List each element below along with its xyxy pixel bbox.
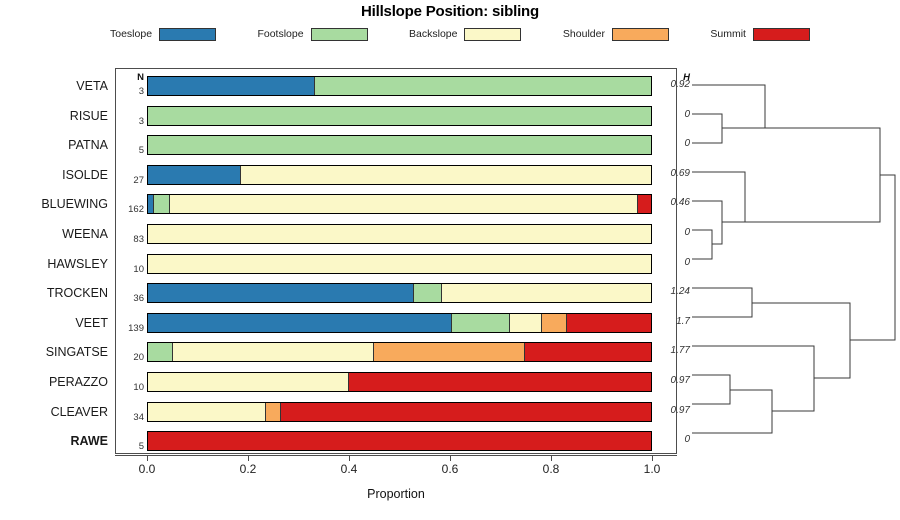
x-tick-label: 0.4 bbox=[327, 462, 371, 476]
legend-item-toeslope[interactable]: Toeslope bbox=[110, 28, 216, 41]
legend-item-label: Backslope bbox=[409, 28, 457, 40]
stacked-bar[interactable] bbox=[147, 402, 652, 422]
bar-segment-summit[interactable] bbox=[349, 373, 651, 391]
x-tick-label: 0.8 bbox=[529, 462, 573, 476]
x-axis-line bbox=[115, 455, 677, 456]
dendrogram-svg bbox=[690, 60, 900, 460]
bar-segment-shoulder[interactable] bbox=[266, 403, 281, 421]
bar-segment-summit[interactable] bbox=[281, 403, 651, 421]
row-count-n: 162 bbox=[118, 204, 144, 216]
bar-segment-backslope[interactable] bbox=[510, 314, 543, 332]
legend-item-label: Summit bbox=[710, 28, 746, 40]
dendro-link-weena-hawsley bbox=[692, 230, 712, 259]
bar-segment-footslope[interactable] bbox=[452, 314, 510, 332]
row-label: VETA bbox=[0, 78, 108, 94]
row-label: RISUE bbox=[0, 108, 108, 124]
row-count-n: 3 bbox=[118, 116, 144, 128]
bar-segment-footslope[interactable] bbox=[148, 107, 651, 125]
row-label: SINGATSE bbox=[0, 344, 108, 360]
dendro-link-risue-patna bbox=[692, 114, 722, 143]
x-tick bbox=[450, 455, 451, 461]
x-tick bbox=[147, 455, 148, 461]
legend-item-summit[interactable]: Summit bbox=[710, 28, 810, 41]
row-entropy-h: 0.69 bbox=[660, 168, 690, 180]
bar-segment-backslope[interactable] bbox=[442, 284, 651, 302]
bar-segment-summit[interactable] bbox=[638, 195, 651, 213]
dendro-link-trocken-veet bbox=[692, 288, 752, 317]
row-count-n: 36 bbox=[118, 293, 144, 305]
bar-segment-footslope[interactable] bbox=[148, 136, 651, 154]
bar-segment-backslope[interactable] bbox=[173, 343, 374, 361]
stacked-bar[interactable] bbox=[147, 135, 652, 155]
x-tick bbox=[652, 455, 653, 461]
legend-swatch-shoulder bbox=[612, 28, 669, 41]
legend-swatch-footslope bbox=[311, 28, 368, 41]
row-entropy-h: 0 bbox=[660, 257, 690, 269]
row-label: WEENA bbox=[0, 226, 108, 242]
row-label: ISOLDE bbox=[0, 167, 108, 183]
page-title: Hillslope Position: sibling bbox=[0, 3, 900, 20]
row-entropy-h: 0.46 bbox=[660, 197, 690, 209]
stacked-bar[interactable] bbox=[147, 106, 652, 126]
row-count-n: 27 bbox=[118, 175, 144, 187]
x-tick bbox=[349, 455, 350, 461]
dendro-link-upper-super bbox=[745, 128, 880, 222]
bar-segment-backslope[interactable] bbox=[241, 166, 651, 184]
x-axis-title: Proportion bbox=[115, 487, 677, 501]
bar-segment-backslope[interactable] bbox=[170, 195, 639, 213]
row-label: BLUEWING bbox=[0, 196, 108, 212]
legend-item-label: Footslope bbox=[257, 28, 303, 40]
row-entropy-h: 0 bbox=[660, 138, 690, 150]
row-entropy-h: 0.97 bbox=[660, 375, 690, 387]
row-entropy-h: 0 bbox=[660, 434, 690, 446]
row-count-n: 20 bbox=[118, 352, 144, 364]
legend-item-label: Toeslope bbox=[110, 28, 152, 40]
row-entropy-h: 1.7 bbox=[660, 316, 690, 328]
dendro-link-veta-group bbox=[692, 85, 765, 128]
stacked-bar[interactable] bbox=[147, 342, 652, 362]
x-tick bbox=[551, 455, 552, 461]
row-label: PATNA bbox=[0, 137, 108, 153]
x-tick-label: 1.0 bbox=[630, 462, 674, 476]
row-entropy-h: 1.24 bbox=[660, 286, 690, 298]
row-count-n: 10 bbox=[118, 382, 144, 394]
x-tick bbox=[248, 455, 249, 461]
bar-segment-footslope[interactable] bbox=[414, 284, 442, 302]
dendro-link-singatse-group bbox=[692, 346, 814, 411]
bar-segment-summit[interactable] bbox=[148, 432, 651, 450]
bar-segment-backslope[interactable] bbox=[148, 403, 266, 421]
stacked-bar[interactable] bbox=[147, 165, 652, 185]
row-count-n: 139 bbox=[118, 323, 144, 335]
legend-item-footslope[interactable]: Footslope bbox=[257, 28, 367, 41]
row-label: TROCKEN bbox=[0, 285, 108, 301]
row-entropy-h: 0 bbox=[660, 109, 690, 121]
row-entropy-h: 1.77 bbox=[660, 345, 690, 357]
row-label: VEET bbox=[0, 315, 108, 331]
bar-segment-toeslope[interactable] bbox=[148, 314, 452, 332]
row-label: PERAZZO bbox=[0, 374, 108, 390]
bar-segment-shoulder[interactable] bbox=[374, 343, 525, 361]
bar-segment-backslope[interactable] bbox=[148, 373, 349, 391]
x-tick-label: 0.2 bbox=[226, 462, 270, 476]
dendro-link-bluewing-group bbox=[692, 201, 722, 244]
stacked-bar[interactable] bbox=[147, 224, 652, 244]
legend-swatch-toeslope bbox=[159, 28, 216, 41]
legend-item-backslope[interactable]: Backslope bbox=[409, 28, 521, 41]
dendro-link-perazzo-cleaver bbox=[692, 375, 730, 404]
legend: ToeslopeFootslopeBackslopeShoulderSummit bbox=[110, 25, 810, 43]
dendrogram bbox=[690, 60, 900, 460]
x-tick-label: 0.6 bbox=[428, 462, 472, 476]
dendro-link-root bbox=[850, 175, 895, 340]
bar-segment-footslope[interactable] bbox=[154, 195, 170, 213]
row-label: HAWSLEY bbox=[0, 256, 108, 272]
stacked-bar[interactable] bbox=[147, 254, 652, 274]
row-entropy-h: 0.92 bbox=[660, 79, 690, 91]
dendro-link-rawe-group bbox=[692, 390, 772, 433]
legend-item-label: Shoulder bbox=[563, 28, 605, 40]
bar-segment-summit[interactable] bbox=[567, 314, 650, 332]
row-entropy-h: 0.97 bbox=[660, 405, 690, 417]
legend-swatch-summit bbox=[753, 28, 810, 41]
stacked-bar[interactable] bbox=[147, 313, 652, 333]
stacked-bar[interactable] bbox=[147, 194, 652, 214]
stacked-bar[interactable] bbox=[147, 372, 652, 392]
bar-segment-summit[interactable] bbox=[525, 343, 651, 361]
row-label: CLEAVER bbox=[0, 404, 108, 420]
bar-segment-footslope[interactable] bbox=[315, 77, 651, 95]
stacked-bar[interactable] bbox=[147, 431, 652, 451]
stacked-bar[interactable] bbox=[147, 283, 652, 303]
bar-segment-shoulder[interactable] bbox=[542, 314, 567, 332]
row-count-n: 34 bbox=[118, 412, 144, 424]
row-count-n: 3 bbox=[118, 86, 144, 98]
bar-segment-backslope[interactable] bbox=[148, 225, 651, 243]
row-count-n: 5 bbox=[118, 441, 144, 453]
stacked-bar[interactable] bbox=[147, 76, 652, 96]
dendro-link-lower-super bbox=[752, 303, 850, 378]
bar-segment-toeslope[interactable] bbox=[148, 284, 414, 302]
row-count-n: 83 bbox=[118, 234, 144, 246]
bar-segment-toeslope[interactable] bbox=[148, 77, 315, 95]
x-tick-label: 0.0 bbox=[125, 462, 169, 476]
bar-segment-toeslope[interactable] bbox=[148, 166, 241, 184]
legend-item-shoulder[interactable]: Shoulder bbox=[563, 28, 669, 41]
legend-swatch-backslope bbox=[464, 28, 521, 41]
bar-segment-backslope[interactable] bbox=[148, 255, 651, 273]
row-entropy-h: 0 bbox=[660, 227, 690, 239]
row-count-n: 10 bbox=[118, 264, 144, 276]
bar-segment-footslope[interactable] bbox=[148, 343, 173, 361]
dendro-link-isolde-group bbox=[692, 172, 745, 222]
row-label: RAWE bbox=[0, 433, 108, 449]
row-count-n: 5 bbox=[118, 145, 144, 157]
